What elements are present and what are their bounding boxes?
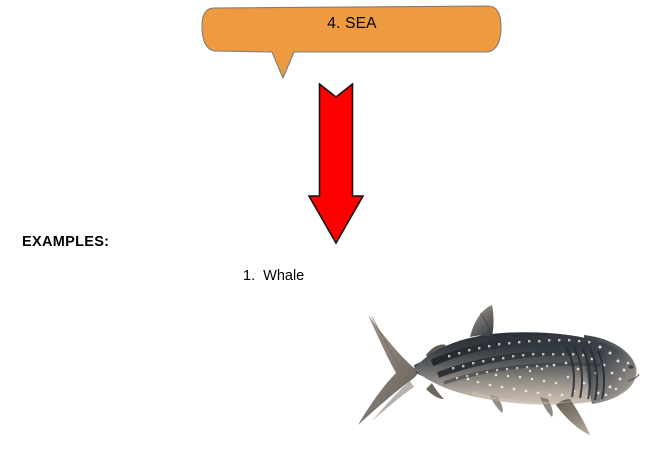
caudal-upper-edge: [372, 317, 402, 371]
examples-heading: EXAMPLES:: [22, 234, 109, 250]
whale-shark-image: [352, 303, 648, 437]
banner-shape: [196, 0, 508, 86]
banner-sea[interactable]: 4. SEA: [196, 0, 508, 86]
down-arrow: [305, 80, 367, 252]
whale-shark-head: [584, 335, 637, 404]
whale-shark-illustration: [352, 303, 648, 437]
pectoral-fin: [556, 399, 590, 435]
example-item-whale: 1. Whale: [243, 268, 304, 284]
down-arrow-icon: [305, 80, 367, 252]
eye: [628, 365, 633, 368]
slide-canvas: 4. SEA EXAMPLES: 1. Whale: [0, 0, 671, 449]
caudal-fin: [358, 315, 418, 425]
